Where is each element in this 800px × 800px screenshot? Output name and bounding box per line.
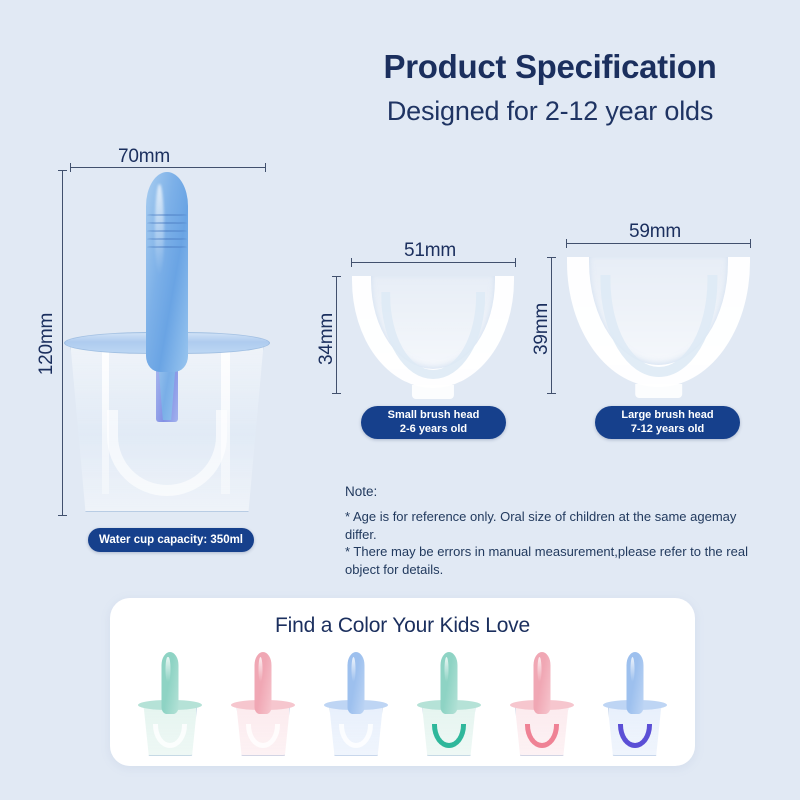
product-specification-infographic: Product Specification Designed for 2-12 …: [0, 0, 800, 800]
variant-handle: [533, 652, 550, 714]
color-variant-item[interactable]: [413, 652, 485, 756]
note-title: Note:: [345, 484, 765, 499]
variant-handle: [626, 652, 643, 714]
color-variant-item[interactable]: [599, 652, 671, 756]
color-variant-item[interactable]: [227, 652, 299, 756]
large-head-width-dimension-line: [566, 243, 751, 244]
color-card-title: Find a Color Your Kids Love: [110, 614, 695, 638]
large-brush-head-badge: Large brush head 7-12 years old: [595, 406, 740, 439]
note-line-3: object for details.: [345, 561, 765, 579]
color-variant-item[interactable]: [506, 652, 578, 756]
header: Product Specification Designed for 2-12 …: [340, 48, 760, 127]
main-height-label: 120mm: [36, 307, 58, 381]
note-line-2: * There may be errors in manual measurem…: [345, 543, 765, 561]
note-line-1: * Age is for reference only. Oral size o…: [345, 508, 765, 543]
large-brush-head-badge-line2: 7-12 years old: [631, 423, 704, 437]
variant-handle: [440, 652, 457, 714]
small-head-height-label: 34mm: [316, 302, 338, 376]
water-capacity-badge-label: Water cup capacity: 350ml: [99, 533, 243, 547]
variant-handle: [348, 652, 365, 714]
large-brush-head: [567, 257, 750, 387]
large-head-height-label: 39mm: [531, 292, 553, 366]
color-variant-item[interactable]: [320, 652, 392, 756]
note-block: Note: * Age is for reference only. Oral …: [345, 484, 765, 578]
main-width-label: 70mm: [118, 146, 170, 168]
small-brush-head-neck: [412, 385, 454, 399]
page-subtitle: Designed for 2-12 year olds: [340, 95, 760, 127]
water-capacity-badge: Water cup capacity: 350ml: [88, 528, 254, 552]
small-head-width-label: 51mm: [404, 240, 456, 262]
color-variant-list: [124, 650, 681, 756]
main-product-illustration: [62, 172, 272, 517]
color-variant-item[interactable]: [134, 652, 206, 756]
small-brush-head-badge-line1: Small brush head: [388, 409, 480, 423]
small-brush-head-badge: Small brush head 2-6 years old: [361, 406, 506, 439]
small-brush-head-badge-line2: 2-6 years old: [400, 423, 467, 437]
large-head-width-label: 59mm: [629, 221, 681, 243]
toothbrush-handle: [146, 172, 188, 372]
color-variants-card: Find a Color Your Kids Love: [110, 598, 695, 766]
page-title: Product Specification: [340, 48, 760, 87]
small-head-width-dimension-line: [351, 262, 516, 263]
handle-grip-rings: [146, 212, 188, 256]
variant-handle: [255, 652, 272, 714]
small-brush-head: [352, 276, 514, 388]
large-brush-head-badge-line1: Large brush head: [621, 409, 713, 423]
large-brush-head-neck: [635, 384, 683, 398]
variant-handle: [162, 652, 179, 714]
